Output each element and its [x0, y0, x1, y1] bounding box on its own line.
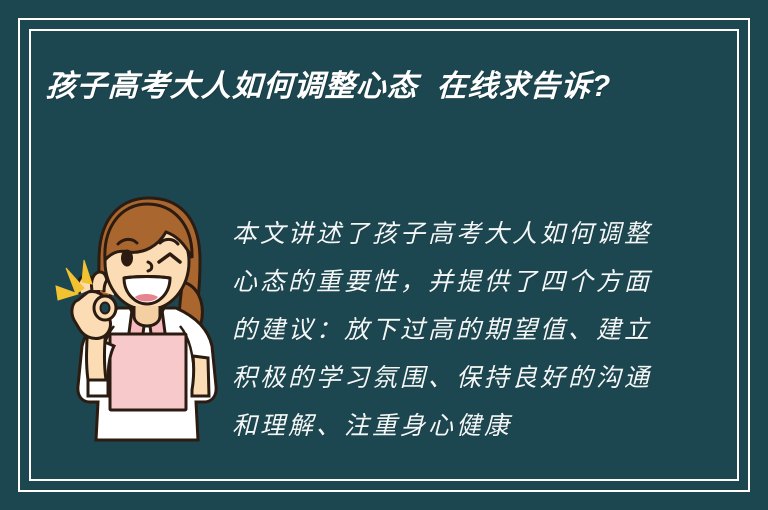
edge-mask-top — [0, 0, 768, 18]
illustration-winking-woman — [52, 190, 242, 470]
edge-mask-left — [0, 0, 18, 510]
body-paragraph: 本文讲述了孩子高考大人如何调整心态的重要性，并提供了四个方面的建议：放下过高的期… — [232, 210, 652, 450]
edge-mask-right — [750, 0, 768, 510]
page-title: 孩子高考大人如何调整心态 在线求告诉? — [45, 62, 647, 112]
poster-canvas: 孩子高考大人如何调整心态 在线求告诉? — [0, 0, 768, 510]
winking-woman-icon — [52, 190, 242, 470]
edge-mask-bottom — [0, 492, 768, 510]
